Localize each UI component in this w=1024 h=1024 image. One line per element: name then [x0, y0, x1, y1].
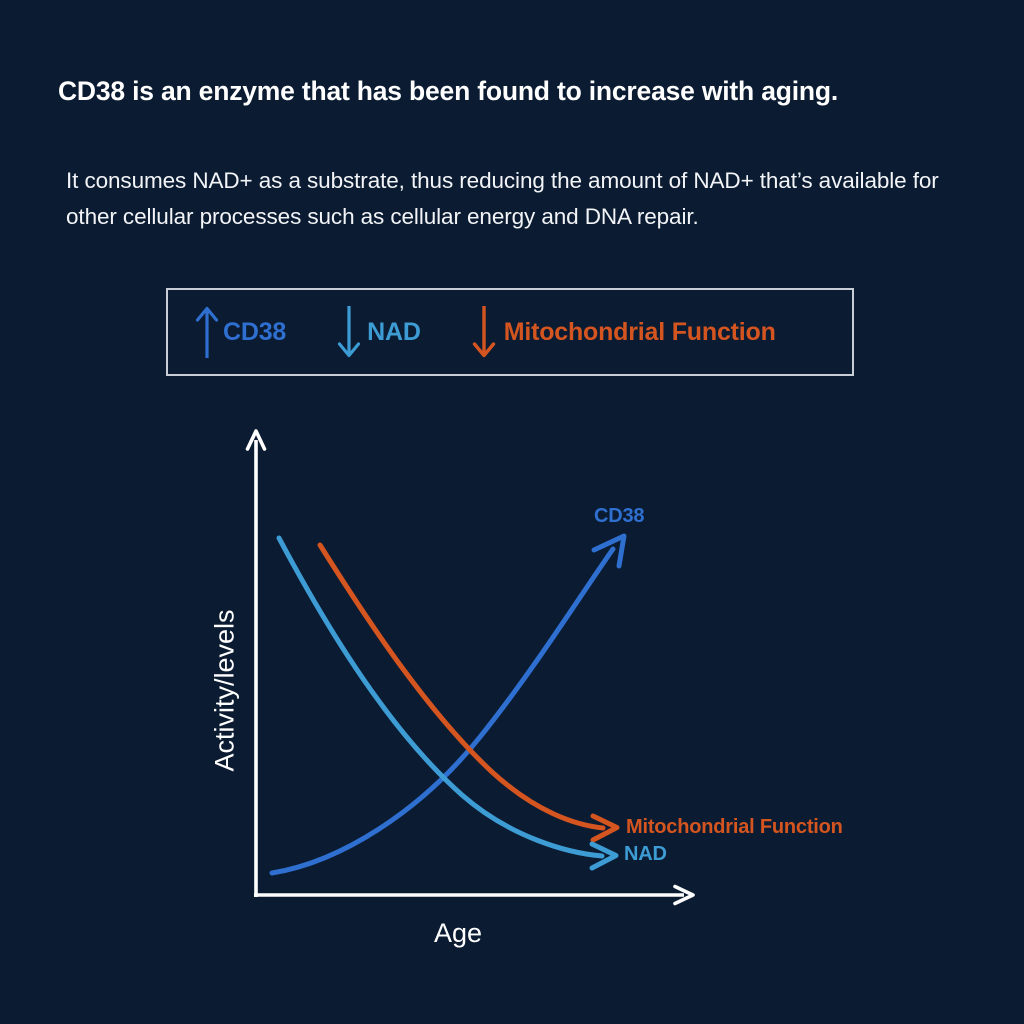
x-axis-label: Age	[434, 918, 482, 949]
legend-item-mitochondrial-function-label: Mitochondrial Function	[504, 318, 776, 347]
series-curve-nad	[279, 538, 616, 868]
curve-label-cd38: CD38	[594, 505, 644, 528]
legend-item-cd38-label: CD38	[223, 318, 286, 347]
y-axis	[248, 431, 265, 897]
body-paragraph: It consumes NAD+ as a substrate, thus re…	[66, 163, 971, 236]
legend-item-cd38: CD38	[194, 290, 286, 374]
infographic-page: CD38 is an enzyme that has been found to…	[0, 0, 1024, 1024]
x-axis	[254, 887, 693, 904]
y-axis-label: Activity/levels	[210, 632, 241, 772]
arrow-down-icon	[336, 304, 362, 360]
series-curve-mitochondrial-function	[320, 545, 617, 840]
chart-figure	[0, 0, 1024, 1024]
legend-item-nad-label: NAD	[367, 318, 421, 347]
legend-box: CD38 NAD Mitochondrial Function	[166, 288, 854, 376]
legend-item-mitochondrial-function: Mitochondrial Function	[471, 290, 776, 374]
curve-label-nad: NAD	[624, 843, 667, 866]
curve-label-mitochondrial-function: Mitochondrial Function	[626, 816, 843, 839]
arrow-up-icon	[194, 304, 220, 360]
series-curve-cd38	[272, 536, 624, 873]
legend-item-nad: NAD	[336, 290, 421, 374]
arrow-down-icon	[471, 304, 497, 360]
page-title: CD38 is an enzyme that has been found to…	[58, 76, 978, 108]
